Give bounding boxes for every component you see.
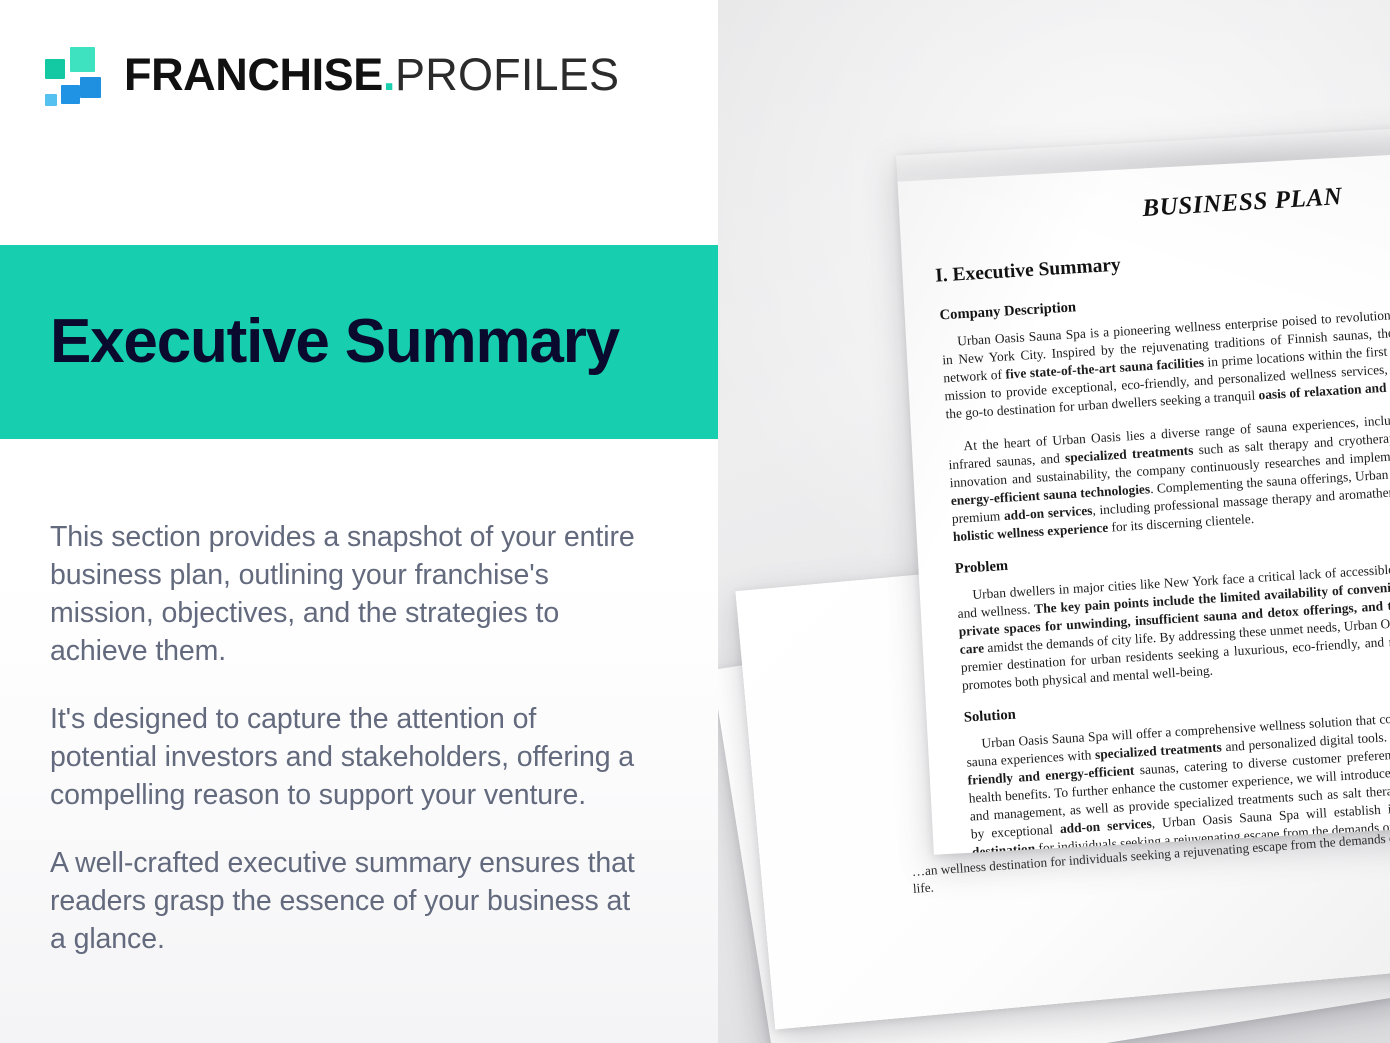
brand-name-bold: FRANCHISE bbox=[124, 49, 383, 100]
logo-square-lightblue-small bbox=[45, 94, 57, 106]
document-section-problem: Problem Urban dwellers in major cities l… bbox=[948, 524, 1390, 696]
document-section-solution: Solution Urban Oasis Sauna Spa will offe… bbox=[957, 672, 1390, 854]
section-description: This section provides a snapshot of your… bbox=[50, 518, 650, 958]
document-section-heading: I. Executive Summary bbox=[935, 228, 1390, 288]
brand-logo[interactable]: FRANCHISE.PROFILES bbox=[44, 42, 619, 106]
logo-square-teal-dark bbox=[45, 59, 65, 79]
document-page-content: BUSINESS PLAN I. Executive Summary Compa… bbox=[896, 118, 1390, 854]
business-plan-document: BUSINESS PLAN I. Executive Summary Compa… bbox=[896, 118, 1390, 854]
document-paragraph: At the heart of Urban Oasis lies a diver… bbox=[947, 401, 1390, 546]
franchise-profiles-mark-icon bbox=[44, 46, 106, 102]
page-title: Executive Summary bbox=[50, 311, 619, 373]
logo-square-blue-large bbox=[80, 77, 101, 98]
brand-dot: . bbox=[383, 49, 395, 100]
document-stack-image: …an wellness destination for individuals… bbox=[718, 0, 1390, 1043]
description-paragraph-1: This section provides a snapshot of your… bbox=[50, 518, 650, 670]
logo-square-blue bbox=[61, 85, 80, 104]
brand-wordmark: FRANCHISE.PROFILES bbox=[124, 52, 619, 97]
document-title: BUSINESS PLAN bbox=[927, 170, 1390, 236]
description-paragraph-2: It's designed to capture the attention o… bbox=[50, 700, 650, 814]
logo-square-mint bbox=[70, 47, 95, 72]
description-paragraph-3: A well-crafted executive summary ensures… bbox=[50, 844, 650, 958]
brand-name-thin: PROFILES bbox=[395, 49, 619, 100]
slide-canvas: FRANCHISE.PROFILES Executive Summary Thi… bbox=[0, 0, 1390, 1043]
document-section-company-description: Company Description Urban Oasis Sauna Sp… bbox=[933, 270, 1390, 546]
section-title-banner: Executive Summary bbox=[0, 245, 718, 439]
